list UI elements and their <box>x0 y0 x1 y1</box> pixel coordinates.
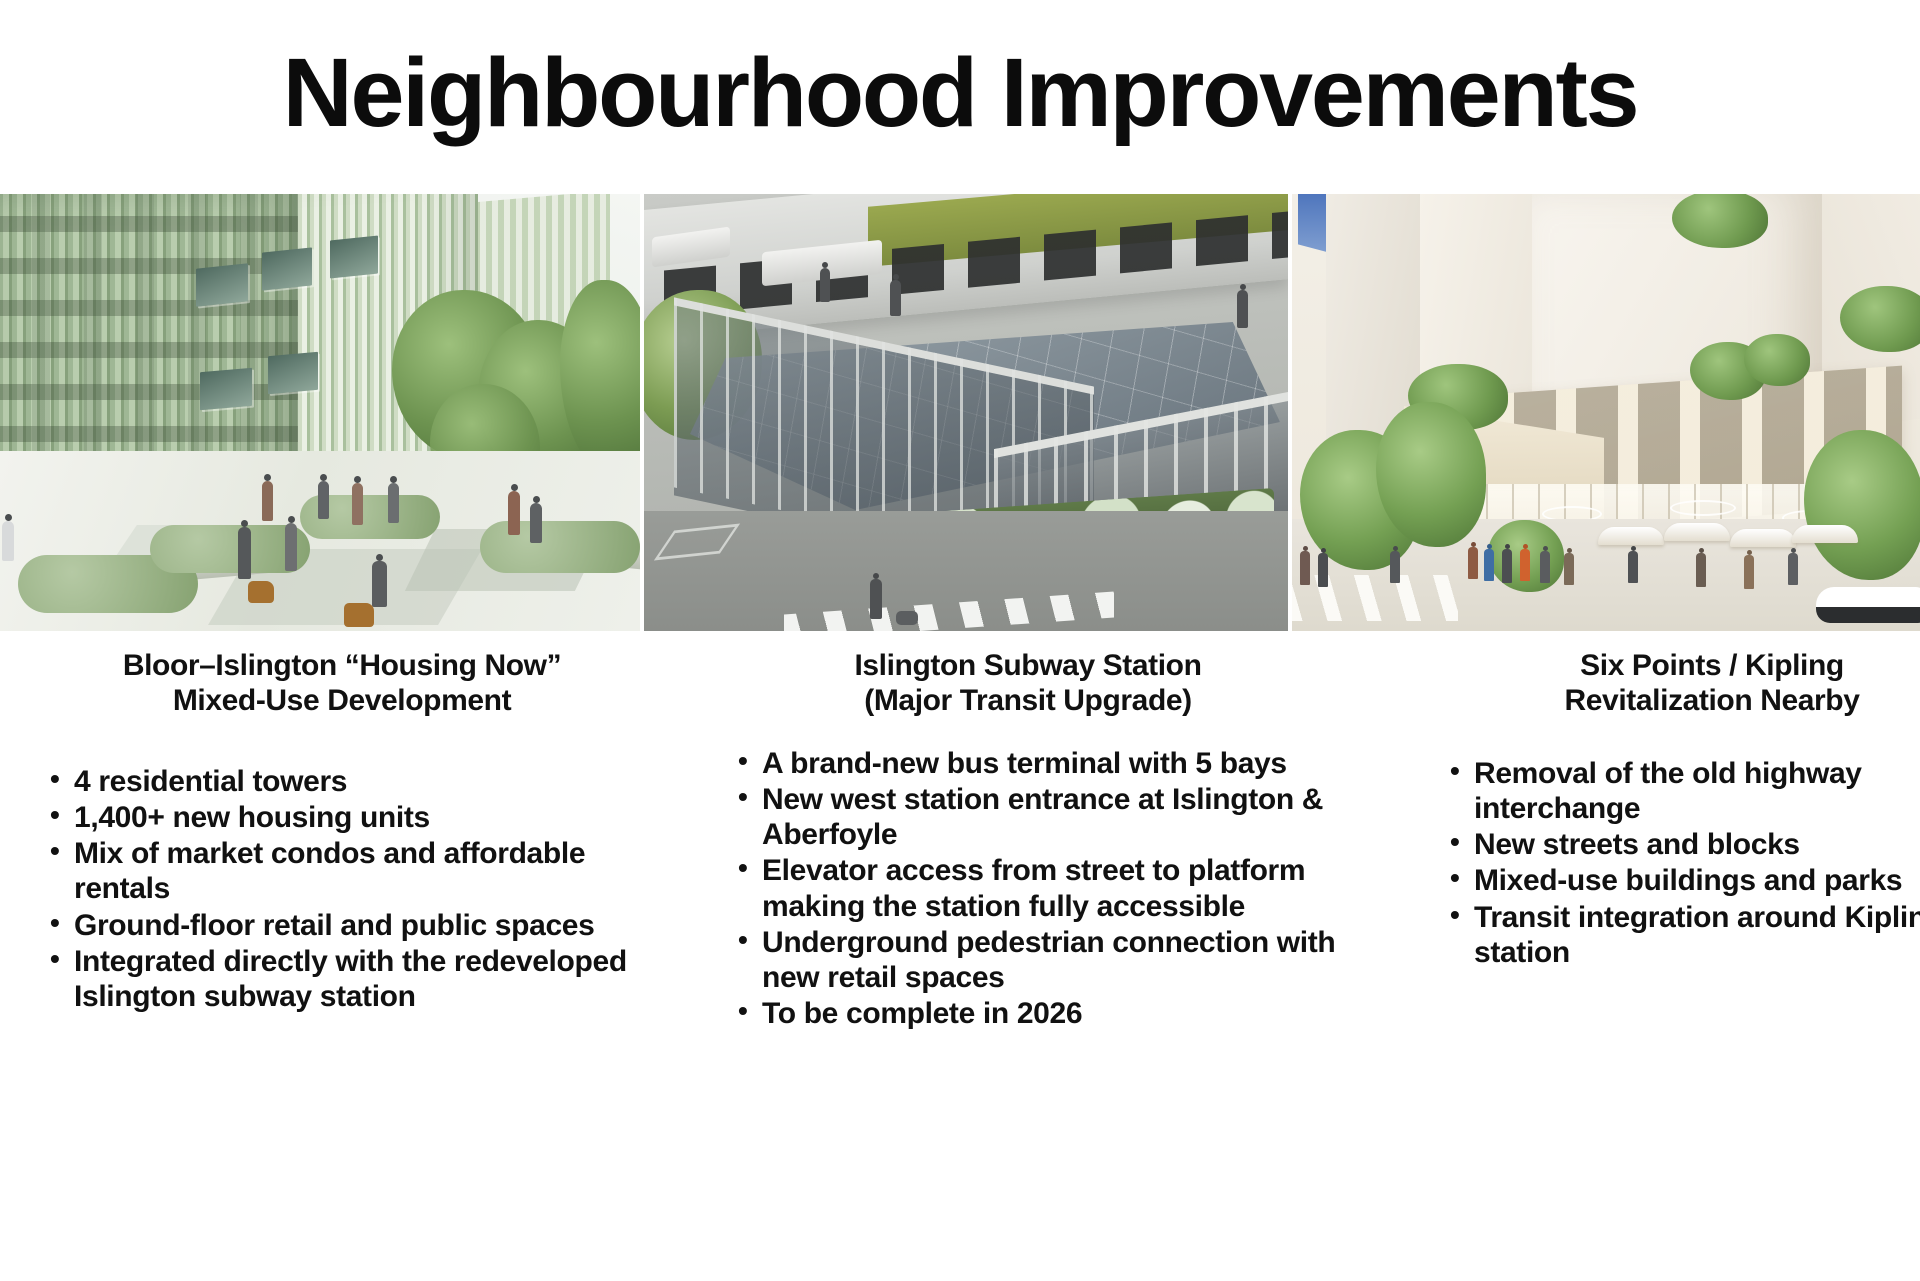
list-item: A brand-new bus terminal with 5 bays <box>732 746 1350 781</box>
list-item: Transit integration around Kipling stati… <box>1444 900 1920 970</box>
dog-figure <box>896 611 918 625</box>
rooftop-tree <box>1744 334 1810 386</box>
list-item: To be complete in 2026 <box>732 996 1350 1031</box>
pedestrian-figure <box>352 483 363 525</box>
column-heading: Six Points / Kipling Revitalization Near… <box>1394 648 1920 718</box>
column-heading: Bloor–Islington “Housing Now” Mixed-Use … <box>30 648 654 718</box>
list-item: Elevator access from street to platform … <box>732 853 1350 923</box>
shrub-planting <box>480 521 640 573</box>
pedestrian-figure <box>1318 553 1328 587</box>
pedestrian-figure <box>318 481 329 519</box>
pedestrian-figure <box>1540 551 1550 583</box>
list-item: 1,400+ new housing units <box>44 800 662 835</box>
column-heading: Islington Subway Station (Major Transit … <box>706 648 1350 718</box>
bullet-list: A brand-new bus terminal with 5 bays New… <box>732 746 1350 1031</box>
pedestrian-figure <box>870 579 882 619</box>
pedestrian-figure <box>1628 551 1638 583</box>
pedestrian-figure <box>372 561 387 607</box>
window-band <box>196 263 248 306</box>
pedestrian-figure <box>890 280 901 316</box>
list-item: Mixed-use buildings and parks <box>1444 863 1920 898</box>
pedestrian-figure <box>1696 553 1706 587</box>
pedestrian-figure <box>1237 290 1248 328</box>
watermark: SAGE REAL ESTATE LIMITED, Brokerage <box>0 1174 1920 1226</box>
window-band <box>330 235 378 278</box>
pedestrian-figure <box>238 527 251 579</box>
column-bloor-islington-housing-now: Bloor–Islington “Housing Now” Mixed-Use … <box>0 648 684 1032</box>
list-item: New streets and blocks <box>1444 827 1920 862</box>
pedestrian-figure <box>285 523 297 571</box>
content-columns: Bloor–Islington “Housing Now” Mixed-Use … <box>0 648 1920 1032</box>
window-band <box>200 368 252 411</box>
column-six-points-kipling: Six Points / Kipling Revitalization Near… <box>1372 648 1920 1032</box>
pedestrian-figure <box>1564 553 1574 585</box>
image-strip <box>0 194 1920 631</box>
pedestrian-figure <box>1744 555 1754 589</box>
bullet-list: Removal of the old highway interchange N… <box>1444 756 1920 970</box>
pedestrian-figure <box>1502 549 1512 583</box>
bullet-list: 4 residential towers 1,400+ new housing … <box>44 764 662 1014</box>
list-item: Integrated directly with the redeveloped… <box>44 944 662 1014</box>
car <box>1816 587 1920 623</box>
pedestrian-figure <box>1468 547 1478 579</box>
image-six-points-kipling <box>1292 194 1920 631</box>
pedestrian-figure <box>1390 551 1400 583</box>
list-item: Ground-floor retail and public spaces <box>44 908 662 943</box>
dog-figure <box>344 603 374 627</box>
pedestrian-figure <box>530 503 542 543</box>
patio-umbrella <box>1598 527 1664 545</box>
pedestrian-figure <box>820 268 830 302</box>
dog-figure <box>248 581 274 603</box>
pedestrian-figure <box>1520 549 1530 581</box>
page-title: Neighbourhood Improvements <box>0 0 1920 140</box>
list-item: Underground pedestrian connection with n… <box>732 925 1350 995</box>
pedestrian-figure <box>1300 551 1310 585</box>
pedestrian-figure <box>508 491 520 535</box>
patio-umbrella <box>1792 525 1858 543</box>
pedestrian-figure <box>1788 553 1798 585</box>
list-item: New west station entrance at Islington &… <box>732 782 1350 852</box>
patio-umbrella <box>1664 523 1730 541</box>
pedestrian-figure <box>1484 549 1494 581</box>
pedestrian-figure <box>388 483 399 523</box>
column-islington-subway-station: Islington Subway Station (Major Transit … <box>684 648 1372 1032</box>
pedestrian-figure <box>262 481 273 521</box>
window-band <box>268 352 318 394</box>
crosswalk-stripes <box>1292 575 1458 621</box>
image-bloor-islington-housing-now <box>0 194 640 631</box>
cyclist-figure <box>2 521 14 561</box>
patio-umbrella <box>1730 529 1796 547</box>
image-islington-subway-station <box>644 194 1288 631</box>
pendant-light-ring <box>1670 500 1736 516</box>
window-band <box>262 247 312 290</box>
list-item: 4 residential towers <box>44 764 662 799</box>
list-item: Removal of the old highway interchange <box>1444 756 1920 826</box>
list-item: Mix of market condos and affordable rent… <box>44 836 662 906</box>
